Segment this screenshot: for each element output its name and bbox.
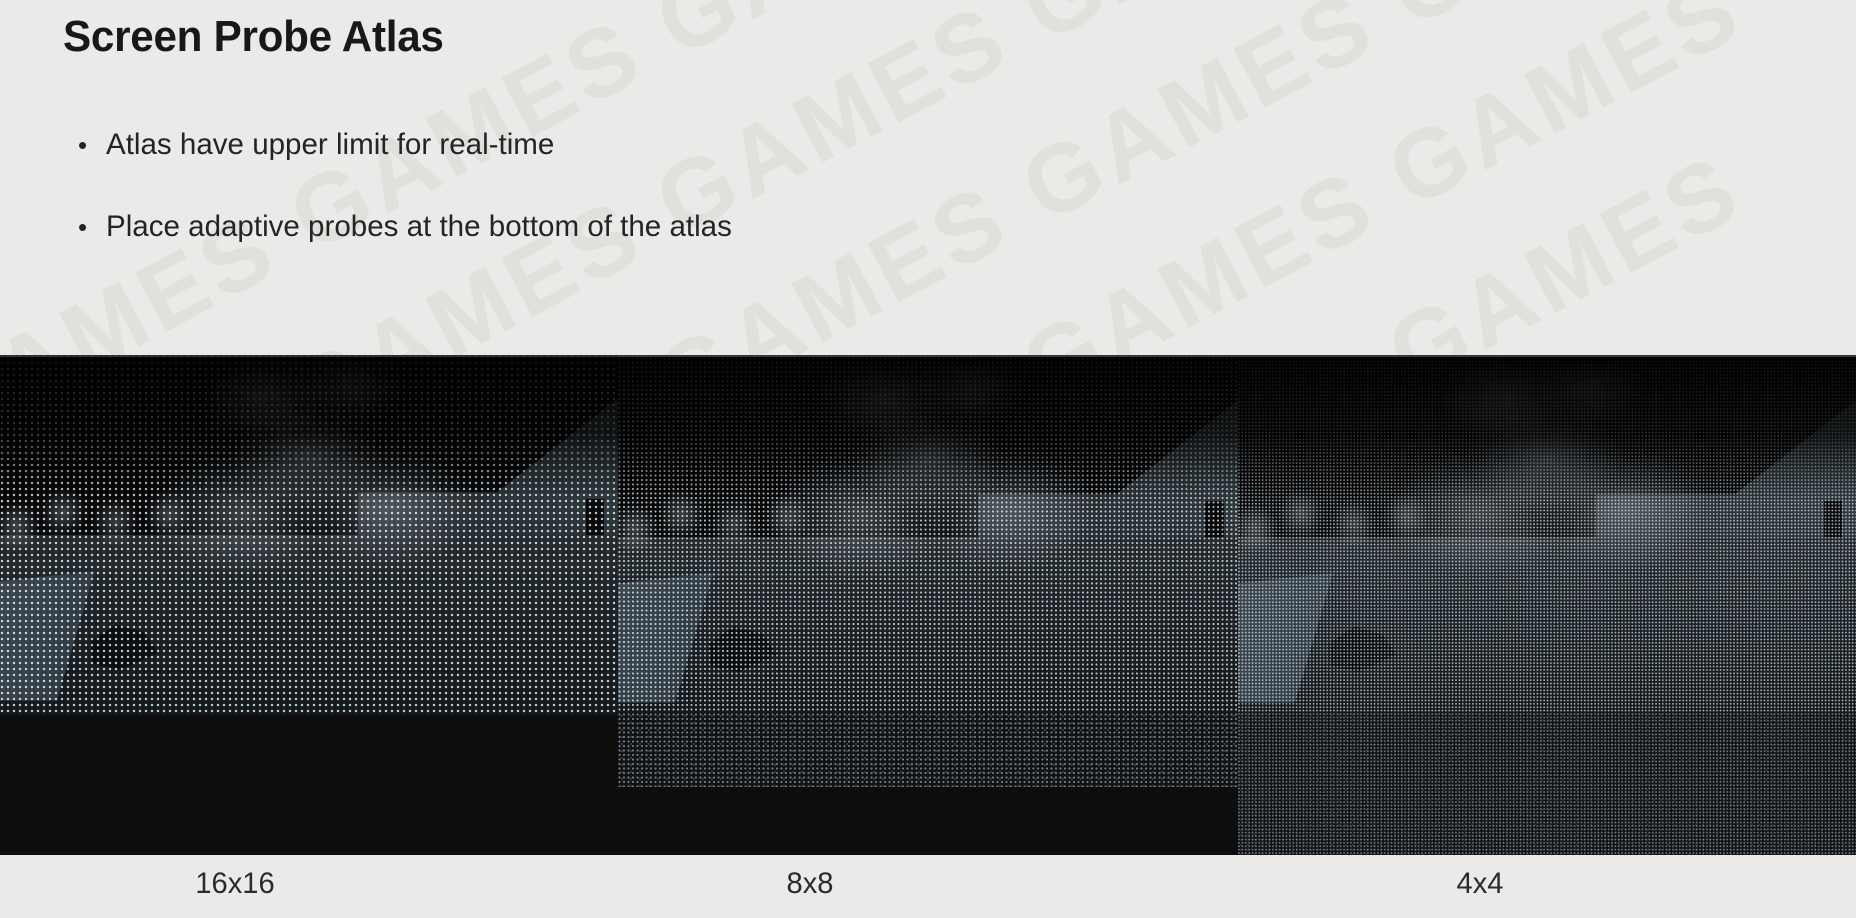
bullet-text-1: Place adaptive probes at the bottom of t… xyxy=(106,210,732,244)
probe-scene xyxy=(1238,357,1856,717)
caption-16x16: 16x16 xyxy=(7,867,463,901)
scene-foliage xyxy=(1374,364,1732,645)
bullet-item-1: • Place adaptive probes at the bottom of… xyxy=(66,210,741,244)
adaptive-probe-dots xyxy=(618,713,1238,787)
caption-4x4: 4x4 xyxy=(1238,867,1723,901)
slide: GAMES GAMES GAMES GAMES GAMES GAMES GAME… xyxy=(0,0,1856,918)
atlas-panel-16x16 xyxy=(0,355,618,715)
probe-scene xyxy=(0,355,618,715)
bullet-text-0: Atlas have upper limit for real-time xyxy=(106,128,554,162)
figure-top-hairline xyxy=(0,355,1856,357)
bullet-marker-icon: • xyxy=(66,132,106,158)
caption-8x8: 8x8 xyxy=(568,867,1053,901)
scene-foliage xyxy=(754,364,1114,645)
adaptive-probe-band xyxy=(1238,713,1856,855)
panel-caption-row: 16x16 8x8 4x4 xyxy=(0,855,1856,918)
adaptive-probe-band xyxy=(618,713,1238,787)
adaptive-probe-dots xyxy=(1238,713,1856,855)
bullet-item-0: • Atlas have upper limit for real-time xyxy=(66,128,561,162)
atlas-comparison-figure xyxy=(0,355,1856,855)
bullet-marker-icon: • xyxy=(66,214,106,240)
page-title: Screen Probe Atlas xyxy=(63,12,444,62)
scene-foliage xyxy=(136,362,494,643)
slide-header: Screen Probe Atlas • Atlas have upper li… xyxy=(0,0,1856,356)
atlas-panel-4x4 xyxy=(1238,357,1856,855)
probe-scene xyxy=(618,357,1238,717)
atlas-panel-8x8 xyxy=(618,357,1238,787)
